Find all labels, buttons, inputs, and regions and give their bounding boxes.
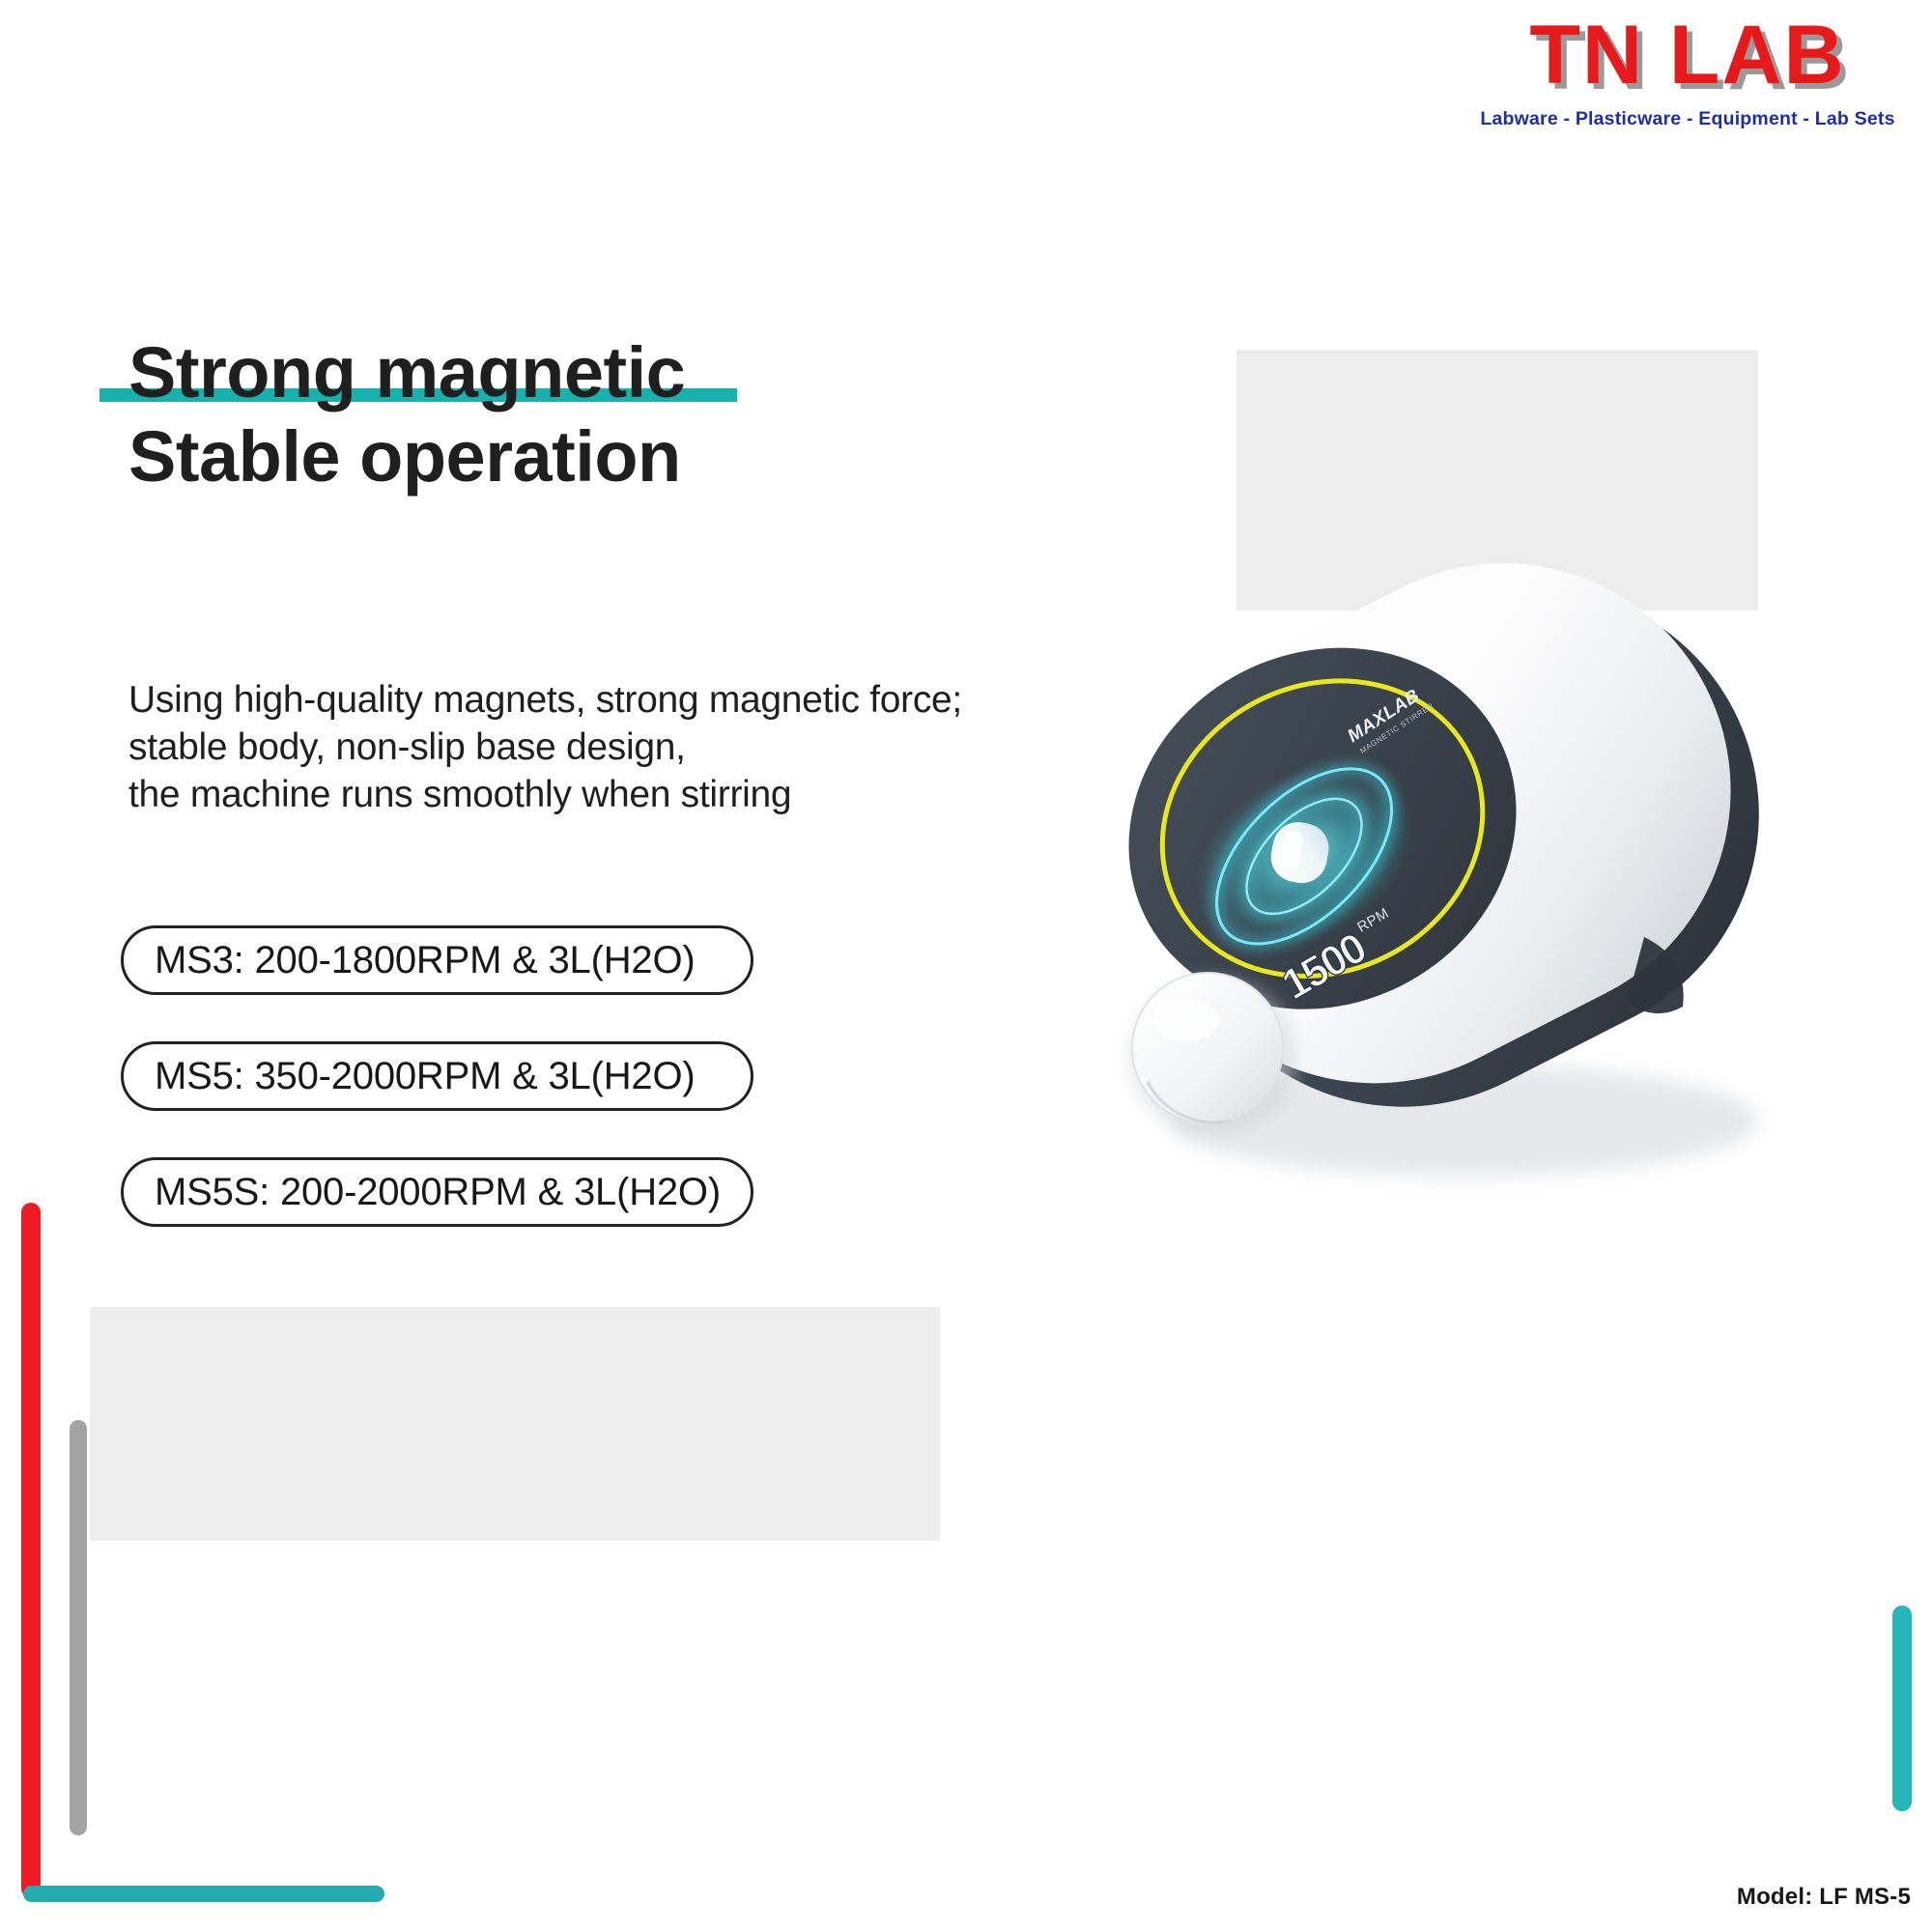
description-paragraph: Using high-quality magnets, strong magne… — [128, 676, 1046, 818]
brand-logo-text: TN LAB — [1461, 14, 1915, 97]
spec-pill-ms5s-label: MS5S: 200-2000RPM & 3L(H2O) — [155, 1171, 721, 1214]
brand-tagline: Labware - Plasticware - Equipment - Lab … — [1461, 108, 1915, 130]
decor-bar-teal-horizontal — [23, 1886, 384, 1902]
page-title: Strong magnetic Stable operation — [128, 330, 1046, 499]
description-line-2: stable body, non-slip base design, — [128, 724, 1046, 771]
spec-pill-ms5s: MS5S: 200-2000RPM & 3L(H2O) — [121, 1157, 753, 1227]
description-line-1: Using high-quality magnets, strong magne… — [128, 676, 1046, 724]
headline-line-2-text: Stable operation — [128, 416, 681, 497]
product-image-magnetic-stirrer: 1500 RPM MAXLAB MAGNETIC STIRRER — [1024, 522, 1893, 1217]
product-infographic-page: TN LAB Labware - Plasticware - Equipment… — [0, 0, 1932, 1932]
model-caption: Model: LF MS-5 — [1737, 1884, 1911, 1911]
decor-gray-block-bottom — [90, 1307, 940, 1541]
decor-bar-teal-right-vertical — [1892, 1605, 1912, 1811]
spec-pill-ms3-label: MS3: 200-1800RPM & 3L(H2O) — [155, 939, 696, 982]
spec-pill-ms3: MS3: 200-1800RPM & 3L(H2O) — [121, 925, 753, 995]
description-line-3: the machine runs smoothly when stirring — [128, 771, 1046, 818]
decor-bar-gray-vertical — [70, 1420, 87, 1835]
spec-pill-ms5-label: MS5: 350-2000RPM & 3L(H2O) — [155, 1055, 696, 1098]
decor-bar-red-vertical — [21, 1203, 41, 1898]
spec-pill-ms5: MS5: 350-2000RPM & 3L(H2O) — [121, 1041, 753, 1111]
brand-logo: TN LAB Labware - Plasticware - Equipment… — [1461, 14, 1915, 130]
spec-list: MS3: 200-1800RPM & 3L(H2O) MS5: 350-2000… — [121, 925, 753, 1273]
headline-line-1: Strong magnetic — [128, 330, 1046, 414]
headline-line-1-text: Strong magnetic — [128, 332, 685, 412]
headline-line-2: Stable operation — [128, 414, 1046, 498]
